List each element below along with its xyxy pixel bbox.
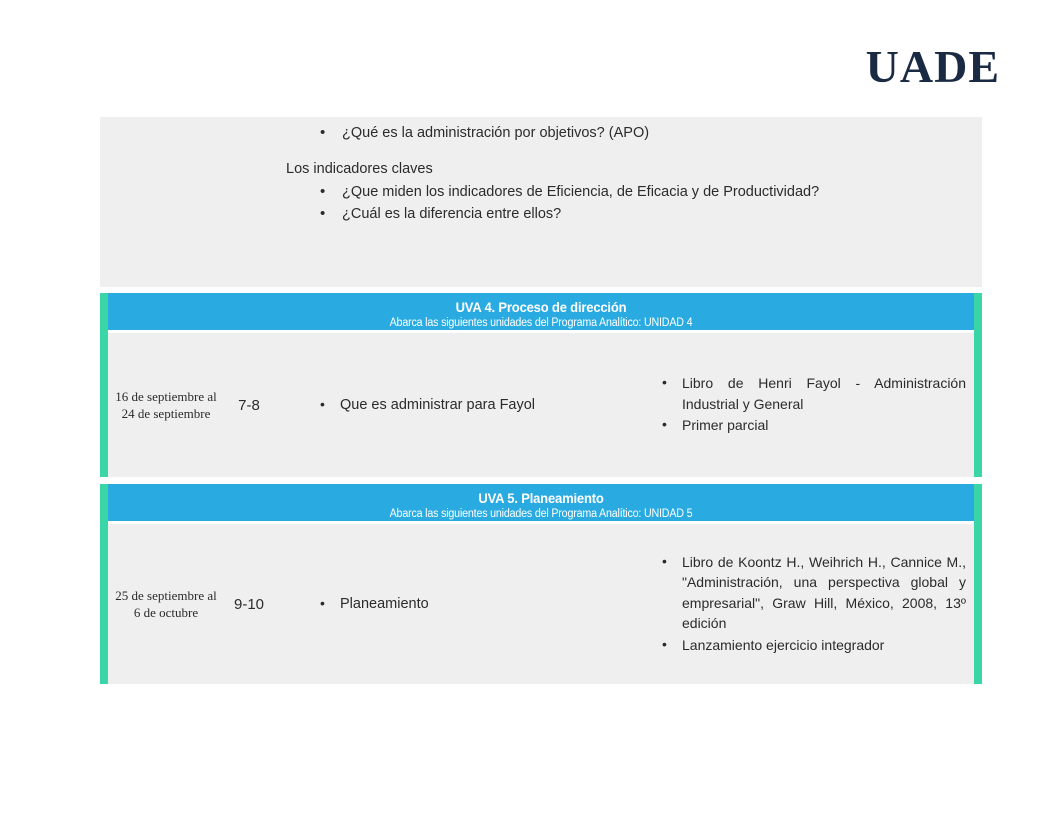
date-cell: 16 de septiembre al 24 de septiembre bbox=[108, 388, 218, 422]
bibliography-cell: Libro de Koontz H., Weihrich H., Cannice… bbox=[654, 552, 974, 657]
accent-bar-right bbox=[974, 484, 982, 684]
uva-section-4: UVA 4. Proceso de dirección Abarca las s… bbox=[100, 293, 982, 477]
bibliography-cell: Libro de Henri Fayol - Administración In… bbox=[654, 373, 974, 437]
accent-bar-left bbox=[100, 484, 108, 684]
list-item: Libro de Henri Fayol - Administración In… bbox=[682, 373, 966, 414]
top-bullet-list-2: ¿Que miden los indicadores de Eficiencia… bbox=[286, 182, 952, 225]
uva-5-subtitle: Abarca las siguientes unidades del Progr… bbox=[138, 507, 943, 522]
top-subheading: Los indicadores claves bbox=[286, 159, 952, 180]
list-item: ¿Que miden los indicadores de Eficiencia… bbox=[342, 182, 952, 203]
list-item: Que es administrar para Fayol bbox=[340, 395, 644, 416]
uva-4-title: UVA 4. Proceso de dirección bbox=[138, 298, 943, 316]
document-page: UADE ¿Qué es la administración por objet… bbox=[0, 0, 1056, 816]
topic-list: Que es administrar para Fayol bbox=[316, 395, 644, 416]
uva-4-header-band: UVA 4. Proceso de dirección Abarca las s… bbox=[108, 293, 974, 330]
accent-bar-right bbox=[974, 293, 982, 477]
topics-cell: Que es administrar para Fayol bbox=[280, 395, 654, 416]
list-item: Primer parcial bbox=[682, 415, 966, 436]
uva-5-row: 25 de septiembre al 6 de octubre 9-10 Pl… bbox=[108, 524, 974, 684]
uva-5-header-band: UVA 5. Planeamiento Abarca las siguiente… bbox=[108, 484, 974, 521]
uva-4-subtitle: Abarca las siguientes unidades del Progr… bbox=[138, 316, 943, 331]
uva-5-title: UVA 5. Planeamiento bbox=[138, 489, 943, 507]
list-item: ¿Qué es la administración por objetivos?… bbox=[342, 123, 952, 144]
bibliography-list: Libro de Koontz H., Weihrich H., Cannice… bbox=[654, 552, 966, 656]
topic-list: Planeamiento bbox=[316, 594, 644, 615]
weeks-cell: 7-8 bbox=[218, 397, 280, 414]
list-item: Lanzamiento ejercicio integrador bbox=[682, 635, 966, 656]
accent-bar-left bbox=[100, 293, 108, 477]
bibliography-list: Libro de Henri Fayol - Administración In… bbox=[654, 373, 966, 436]
list-item: Planeamiento bbox=[340, 594, 644, 615]
uade-logo: UADE bbox=[866, 44, 1000, 90]
top-content-block: ¿Qué es la administración por objetivos?… bbox=[100, 117, 982, 287]
uva-section-5: UVA 5. Planeamiento Abarca las siguiente… bbox=[100, 484, 982, 684]
list-item: ¿Cuál es la diferencia entre ellos? bbox=[342, 204, 952, 225]
topics-cell: Planeamiento bbox=[280, 594, 654, 615]
list-item: Libro de Koontz H., Weihrich H., Cannice… bbox=[682, 552, 966, 634]
date-cell: 25 de septiembre al 6 de octubre bbox=[108, 587, 218, 621]
top-bullet-list-1: ¿Qué es la administración por objetivos?… bbox=[286, 123, 952, 144]
uva-4-row: 16 de septiembre al 24 de septiembre 7-8… bbox=[108, 333, 974, 477]
weeks-cell: 9-10 bbox=[218, 596, 280, 613]
